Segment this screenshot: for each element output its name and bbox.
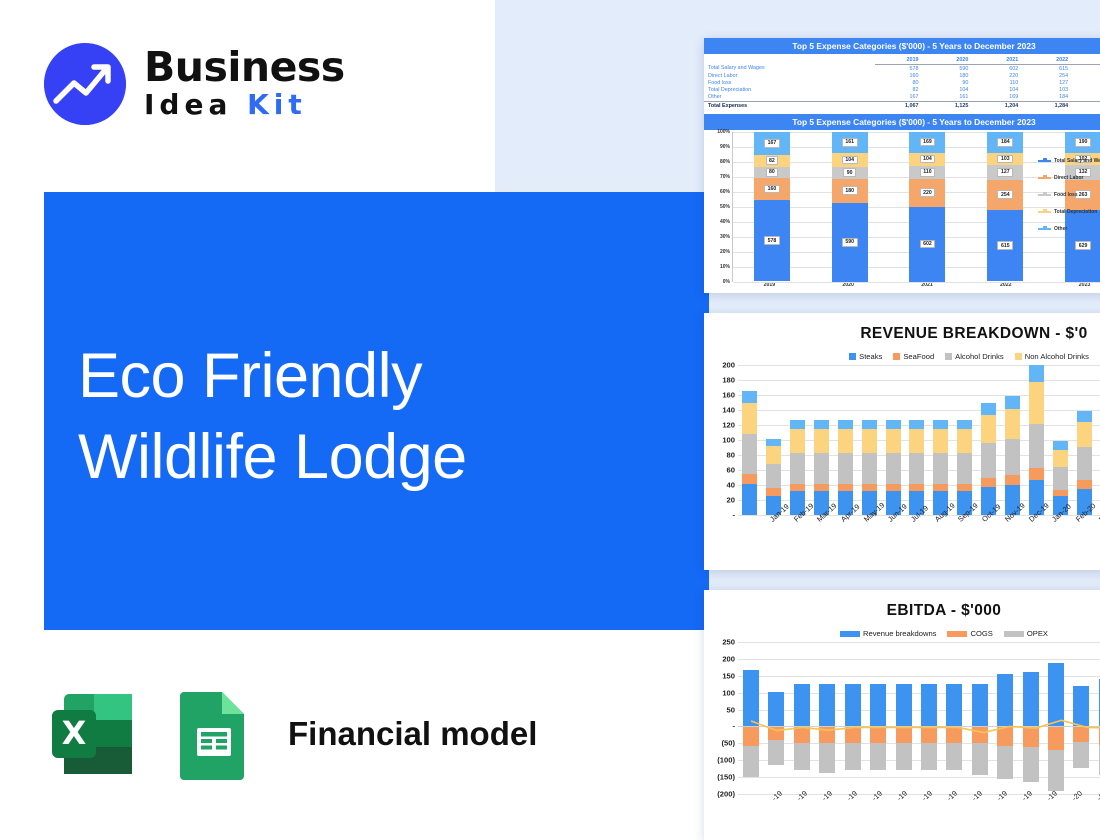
- axis-tick-label: 70%: [720, 174, 730, 180]
- bar-segment-cogs: [921, 726, 937, 743]
- data-label: 578: [764, 236, 780, 245]
- axis-tick-label: 120: [722, 421, 735, 430]
- table-cell: 1,067: [875, 101, 925, 109]
- legend-label: Other: [1054, 226, 1067, 232]
- bar-segment: [909, 429, 924, 453]
- bar-segment: [742, 403, 757, 434]
- legend-item: Total Depreciation: [1038, 209, 1100, 215]
- table-cell: 104: [974, 87, 1024, 94]
- bar-segment: 103: [987, 153, 1023, 165]
- axis-tick-label: 0%: [723, 279, 730, 285]
- bar-segment-revenue: [768, 692, 784, 726]
- bar-segment-revenue: [870, 684, 886, 727]
- axis-tick-label: 20: [727, 496, 735, 505]
- legend-swatch: [893, 353, 900, 360]
- bar-segment: 615: [987, 210, 1023, 282]
- data-label: 110: [920, 168, 935, 177]
- chart-bar: [997, 642, 1013, 794]
- bar-segment: [1077, 480, 1092, 489]
- table-row: Total Depreciation82104104103102: [704, 87, 1100, 94]
- table-cell: 102: [1074, 87, 1100, 94]
- bar-segment-cogs: [794, 726, 810, 743]
- svg-text:X: X: [62, 714, 87, 752]
- expense-stacked-chart: 100%90%80%70%60%50%40%30%20%10%0% 167828…: [706, 132, 1100, 282]
- table-row: Direct Labor160180220254263: [704, 72, 1100, 79]
- ebitda-chart-header: EBITDA - $'000 Revenue breakdownsCOGSOPE…: [704, 590, 1100, 638]
- bar-segment: 104: [909, 153, 945, 166]
- revenue-plot-area: 20018016014012010080604020-: [708, 365, 1100, 515]
- ebitda-plot-area: 25020015010050-(50)(100)(150)(200): [708, 642, 1100, 794]
- bar-segment: [862, 420, 877, 429]
- bar-segment: 169: [909, 132, 945, 153]
- axis-tick-label: 250: [722, 638, 735, 647]
- bar-segment: [790, 484, 805, 492]
- bar-segment: [886, 429, 901, 453]
- chart-bar: [1077, 411, 1092, 515]
- legend-swatch: [849, 353, 856, 360]
- bar-segment-cogs: [946, 726, 962, 743]
- bar-segment: [1005, 475, 1020, 486]
- data-label: 167: [764, 139, 780, 148]
- table-cell: 1,204: [974, 101, 1024, 109]
- legend-swatch: [1038, 194, 1051, 196]
- bar-segment: [886, 420, 901, 429]
- bar-segment-revenue: [1048, 663, 1064, 726]
- chart-bar: [1029, 365, 1044, 515]
- bar-segment-cogs: [896, 726, 912, 743]
- axis-tick-label: 80: [727, 451, 735, 460]
- bar-segment: [838, 420, 853, 429]
- bar-segment-cogs: [845, 726, 861, 743]
- chart-bar: [921, 642, 937, 794]
- bar-segment: 220: [909, 179, 945, 206]
- table-cell: 1,316: [1074, 101, 1100, 109]
- bar-segment: [742, 434, 757, 474]
- data-label: 190: [1075, 138, 1091, 147]
- bar-segment-opex: [972, 743, 988, 775]
- bar-segment: [957, 420, 972, 429]
- legend-swatch: [1038, 228, 1051, 230]
- brand-kit-text: Kit: [247, 88, 307, 121]
- revenue-chart-header: REVENUE BREAKDOWN - $'0 SteaksSeaFoodAlc…: [704, 313, 1100, 361]
- axis-tick-label: (50): [721, 739, 735, 748]
- axis-tick-label: 60: [727, 466, 735, 475]
- chart-bar: [981, 403, 996, 516]
- axis-tick-label: 60%: [720, 189, 730, 195]
- revenue-x-axis: Jan-19Feb-19Mar-19Apr-19May-19Jun-19Jul-…: [734, 515, 1100, 569]
- axis-tick-label: 90%: [720, 144, 730, 150]
- bar-segment-cogs: [1073, 726, 1089, 741]
- table-row-label: Direct Labor: [704, 72, 875, 79]
- table-cell: 1,284: [1024, 101, 1074, 109]
- bar-segment: [909, 484, 924, 492]
- data-label: 104: [842, 156, 858, 165]
- axis-tick-label: (150): [717, 773, 735, 782]
- bar-segment: [933, 420, 948, 429]
- data-label: 104: [920, 155, 936, 164]
- bar-segment: 127: [987, 165, 1023, 180]
- bar-segment: [1029, 365, 1044, 382]
- chart-bar: [1005, 396, 1020, 515]
- table-cell: 167: [875, 94, 925, 102]
- bar-segment: 590: [832, 203, 868, 282]
- chart-bar: [814, 420, 829, 515]
- expense-categories-card[interactable]: Top 5 Expense Categories ($'000) - 5 Yea…: [704, 38, 1100, 293]
- legend-item: Revenue breakdowns: [840, 629, 936, 638]
- data-label: 103: [997, 155, 1013, 164]
- chart-bar: [768, 642, 784, 794]
- legend-item: Other: [1038, 226, 1100, 232]
- bar-segment: [766, 439, 781, 447]
- bar-segment: 180: [832, 179, 868, 203]
- chart-bar: [1073, 642, 1089, 794]
- table-cell: 578: [875, 65, 925, 73]
- table-total-row: Total Expenses1,0671,1251,2041,2841,316: [704, 101, 1100, 109]
- legend-label: OPEX: [1027, 629, 1048, 638]
- bar-segment: [1029, 424, 1044, 468]
- legend-swatch: [1038, 177, 1051, 179]
- axis-tick-label: 20%: [720, 249, 730, 255]
- bar-segment-cogs: [819, 726, 835, 743]
- bar-segment: 80: [754, 167, 790, 178]
- bar-segment: 160: [754, 178, 790, 200]
- bar-segment: 578: [754, 200, 790, 281]
- axis-tick-label: 200: [722, 361, 735, 370]
- bar-segment: 161: [832, 132, 868, 153]
- data-label: 602: [920, 240, 936, 249]
- bar-segment-revenue: [972, 684, 988, 727]
- bar-segment: [909, 453, 924, 484]
- table-cell: 190: [1074, 94, 1100, 102]
- bar-segment: [862, 429, 877, 453]
- axis-tick-label: 160: [722, 391, 735, 400]
- table-cell: 184: [1024, 94, 1074, 102]
- expense-table: 20192020202120222023 Total Salary and Wa…: [704, 56, 1100, 110]
- bar-segment-revenue: [1023, 672, 1039, 726]
- legend-swatch: [1015, 353, 1022, 360]
- chart-bar: [957, 420, 972, 515]
- legend-item: SeaFood: [893, 352, 934, 361]
- legend-label: Direct Labor: [1054, 175, 1083, 181]
- table-row: Other167161169184190: [704, 94, 1100, 102]
- axis-tick-label: 180: [722, 376, 735, 385]
- table-column-header: 2022: [1024, 56, 1074, 65]
- chart-bar: [1048, 642, 1064, 794]
- data-label: 82: [766, 156, 779, 165]
- bar-segment-opex: [743, 746, 759, 777]
- bar-segment: [981, 403, 996, 415]
- axis-tick-label: 40%: [720, 219, 730, 225]
- page-title-line2: Wildlife Lodge: [78, 417, 678, 498]
- axis-tick-label: 30%: [720, 234, 730, 240]
- bar-segment: [981, 415, 996, 444]
- chart-bar: 169104110220602: [909, 132, 945, 282]
- bar-segment: [814, 484, 829, 492]
- axis-tick-label: 100: [722, 436, 735, 445]
- table-cell: 110: [974, 79, 1024, 86]
- table-cell: 132: [1074, 79, 1100, 86]
- data-label: 615: [997, 241, 1013, 250]
- expense-chart-title: Top 5 Expense Categories ($'000) - 5 Yea…: [704, 114, 1100, 130]
- legend-swatch: [840, 631, 860, 637]
- chart-y-axis: 100%90%80%70%60%50%40%30%20%10%0%: [706, 132, 732, 282]
- legend-label: Revenue breakdowns: [863, 629, 936, 638]
- footer-caption: Financial model: [288, 715, 537, 753]
- bar-segment: [1005, 396, 1020, 409]
- table-column-header: 2023: [1074, 56, 1100, 65]
- bar-segment-revenue: [845, 684, 861, 727]
- axis-tick-label: 140: [722, 406, 735, 415]
- ebitda-plot: [738, 642, 1100, 794]
- bar-segment-cogs: [870, 726, 886, 743]
- table-row-label: Food loss: [704, 79, 875, 86]
- ebitda-x-axis: -19-19-19-19-19-19-19-19-19-19-19-19-20-…: [734, 794, 1100, 840]
- revenue-chart-title: REVENUE BREAKDOWN - $'0: [704, 325, 1100, 343]
- legend-label: Food loss: [1054, 192, 1078, 198]
- chart-legend: Total Salary and WagesDirect LaborFood l…: [1038, 158, 1100, 243]
- data-label: 629: [1075, 241, 1091, 250]
- growth-arrow-icon: [44, 43, 126, 125]
- axis-tick-label: -: [732, 722, 735, 731]
- chart-bar: [743, 642, 759, 794]
- bar-segment: [1053, 467, 1068, 490]
- axis-tick-label: 80%: [720, 159, 730, 165]
- revenue-plot: [738, 365, 1100, 515]
- data-label: 254: [997, 190, 1013, 199]
- google-sheets-icon: [162, 684, 262, 784]
- bar-segment-revenue: [794, 684, 810, 727]
- legend-label: Steaks: [859, 352, 882, 361]
- bar-segment-revenue: [1073, 686, 1089, 727]
- axis-tick-label: 100: [722, 688, 735, 697]
- data-label: 220: [920, 188, 936, 197]
- legend-label: Total Salary and Wages: [1054, 158, 1100, 164]
- table-cell: 103: [1024, 87, 1074, 94]
- table-cell: 254: [1024, 72, 1074, 79]
- bar-segment: 184: [987, 132, 1023, 154]
- bar-segment: [1077, 422, 1092, 447]
- bar-segment: [766, 446, 781, 464]
- bar-segment-opex: [946, 743, 962, 770]
- table-cell: 160: [875, 72, 925, 79]
- bar-segment-opex: [768, 740, 784, 765]
- table-row-label: Total Salary and Wages: [704, 65, 875, 73]
- bar-segment: [1029, 468, 1044, 480]
- brand-name-line2: Idea Kit: [144, 89, 345, 121]
- bar-segment-opex: [997, 746, 1013, 779]
- ebitda-card[interactable]: EBITDA - $'000 Revenue breakdownsCOGSOPE…: [704, 590, 1100, 840]
- bar-segment-opex: [794, 743, 810, 770]
- table-cell: 180: [925, 72, 975, 79]
- bar-segment: [790, 429, 805, 453]
- bar-segment: [838, 453, 853, 484]
- data-label: 590: [842, 238, 858, 247]
- revenue-chart-legend: SteaksSeaFoodAlcohol DrinksNon Alcohol D…: [704, 352, 1100, 361]
- bar-segment-opex: [1023, 747, 1039, 782]
- bar-segment: [933, 484, 948, 492]
- bar-segment-cogs: [1048, 726, 1064, 750]
- chart-bar: [1023, 642, 1039, 794]
- bar-segment-revenue: [896, 684, 912, 727]
- table-cell: 602: [974, 65, 1024, 73]
- chart-bar: 16110490180590: [832, 132, 868, 282]
- bar-segment-revenue: [921, 684, 937, 727]
- chart-bar: [766, 439, 781, 516]
- table-cell: 1,125: [925, 101, 975, 109]
- bar-segment: [814, 453, 829, 484]
- bar-segment: [1053, 490, 1068, 497]
- table-cell: 220: [974, 72, 1024, 79]
- bar-segment: [814, 429, 829, 453]
- chart-bar: [972, 642, 988, 794]
- table-cell: 161: [925, 94, 975, 102]
- bar-segment: 602: [909, 207, 945, 282]
- bar-segment: [1053, 450, 1068, 467]
- chart-bar: [790, 420, 805, 515]
- legend-item: Steaks: [849, 352, 882, 361]
- bar-segment: [1029, 382, 1044, 425]
- revenue-y-axis: 20018016014012010080604020-: [708, 365, 738, 515]
- table-column-header: 2020: [925, 56, 975, 65]
- legend-swatch: [945, 353, 952, 360]
- axis-tick-label: 10%: [720, 264, 730, 270]
- axis-tick-label: 50: [727, 705, 735, 714]
- bar-segment-revenue: [946, 684, 962, 727]
- legend-label: Non Alcohol Drinks: [1025, 352, 1089, 361]
- bar-segment: [790, 453, 805, 484]
- bar-segment: [1005, 409, 1020, 439]
- legend-label: Total Depreciation: [1054, 209, 1097, 215]
- bar-segment-cogs: [972, 726, 988, 743]
- table-column-header: 2021: [974, 56, 1024, 65]
- bar-segment: 254: [987, 180, 1023, 210]
- zero-axis-line: [738, 726, 1100, 727]
- bar-segment: 110: [909, 166, 945, 180]
- chart-bar: [794, 642, 810, 794]
- bar-segment-revenue: [819, 684, 835, 727]
- legend-swatch: [1004, 631, 1024, 637]
- chart-bar: [909, 420, 924, 515]
- table-column-header: 2019: [875, 56, 925, 65]
- bar-segment: [981, 443, 996, 478]
- table-cell: 629: [1074, 65, 1100, 73]
- bar-segment-opex: [896, 743, 912, 770]
- legend-item: COGS: [947, 629, 992, 638]
- bar-segment: [742, 474, 757, 484]
- bar-segment: [933, 453, 948, 484]
- table-cell: 104: [925, 87, 975, 94]
- axis-tick-label: 150: [722, 671, 735, 680]
- table-cell: 90: [925, 79, 975, 86]
- bar-segment-revenue: [997, 674, 1013, 726]
- bar-segment: 104: [832, 153, 868, 167]
- brand-name-line1: Business: [144, 47, 345, 87]
- axis-tick-label: 40: [727, 481, 735, 490]
- legend-item: Alcohol Drinks: [945, 352, 1004, 361]
- revenue-breakdown-card[interactable]: REVENUE BREAKDOWN - $'0 SteaksSeaFoodAlc…: [704, 313, 1100, 570]
- legend-label: COGS: [970, 629, 992, 638]
- bar-segment-cogs: [1023, 726, 1039, 746]
- brand-idea-text: Idea: [144, 88, 247, 121]
- bar-segment-opex: [921, 743, 937, 770]
- legend-swatch: [1038, 211, 1051, 213]
- legend-label: Alcohol Drinks: [955, 352, 1004, 361]
- bar-segment: [957, 453, 972, 484]
- data-label: 127: [997, 168, 1013, 177]
- bar-segment: [814, 420, 829, 429]
- bar-segment: [1077, 447, 1092, 480]
- ebitda-chart-title: EBITDA - $'000: [704, 602, 1100, 620]
- bar-segment: 190: [1065, 132, 1100, 154]
- bar-segment: [933, 429, 948, 453]
- bar-segment: [886, 453, 901, 484]
- page-title-line1: Eco Friendly: [78, 336, 678, 417]
- chart-bar: 184103127254615: [987, 132, 1023, 282]
- bar-segment: [909, 420, 924, 429]
- bar-segment-revenue: [743, 670, 759, 726]
- legend-label: SeaFood: [903, 352, 934, 361]
- data-label: 160: [764, 185, 780, 194]
- bar-segment: 90: [832, 167, 868, 179]
- bar-segment-opex: [845, 743, 861, 770]
- legend-swatch: [947, 631, 967, 637]
- chart-bar: [742, 391, 757, 516]
- data-label: 180: [842, 186, 858, 195]
- bar-segment: 82: [754, 155, 790, 167]
- legend-item: Direct Labor: [1038, 175, 1100, 181]
- axis-tick-label: 100%: [717, 129, 730, 135]
- bar-segment: [766, 488, 781, 496]
- bar-segment: [981, 478, 996, 487]
- page-title: Eco Friendly Wildlife Lodge: [78, 336, 678, 497]
- chart-bar: [933, 420, 948, 515]
- chart-bar: [886, 420, 901, 515]
- chart-bar: [838, 420, 853, 515]
- table-row-label: Other: [704, 94, 875, 102]
- bar-segment: [766, 464, 781, 488]
- table-cell: 127: [1024, 79, 1074, 86]
- data-label: 90: [843, 168, 856, 177]
- microsoft-excel-icon: X: [44, 684, 144, 784]
- axis-tick-label: (200): [717, 790, 735, 799]
- table-cell: 80: [875, 79, 925, 86]
- bar-segment-cogs: [997, 726, 1013, 746]
- footer-row: X Financial model: [44, 684, 537, 784]
- bar-segment-opex: [819, 743, 835, 773]
- bar-segment: [957, 429, 972, 453]
- chart-bar: 1678280160578: [754, 132, 790, 282]
- table-cell: 169: [974, 94, 1024, 102]
- legend-item: OPEX: [1004, 629, 1048, 638]
- table-cell: 82: [875, 87, 925, 94]
- chart-bar: [896, 642, 912, 794]
- table-cell: 263: [1074, 72, 1100, 79]
- data-label: 184: [997, 138, 1013, 147]
- chart-bar: [845, 642, 861, 794]
- axis-tick-label: 200: [722, 654, 735, 663]
- bar-segment: [957, 484, 972, 492]
- ebitda-y-axis: 25020015010050-(50)(100)(150)(200): [708, 642, 738, 794]
- chart-bar: [862, 420, 877, 515]
- axis-tick-label: 50%: [720, 204, 730, 210]
- legend-swatch: [1038, 160, 1051, 162]
- ebitda-chart-legend: Revenue breakdownsCOGSOPEX: [704, 629, 1100, 638]
- bar-segment: [1005, 439, 1020, 475]
- legend-item: Total Salary and Wages: [1038, 158, 1100, 164]
- bar-segment: [838, 429, 853, 453]
- table-row-label: Total Expenses: [704, 101, 875, 109]
- data-label: 169: [920, 138, 936, 147]
